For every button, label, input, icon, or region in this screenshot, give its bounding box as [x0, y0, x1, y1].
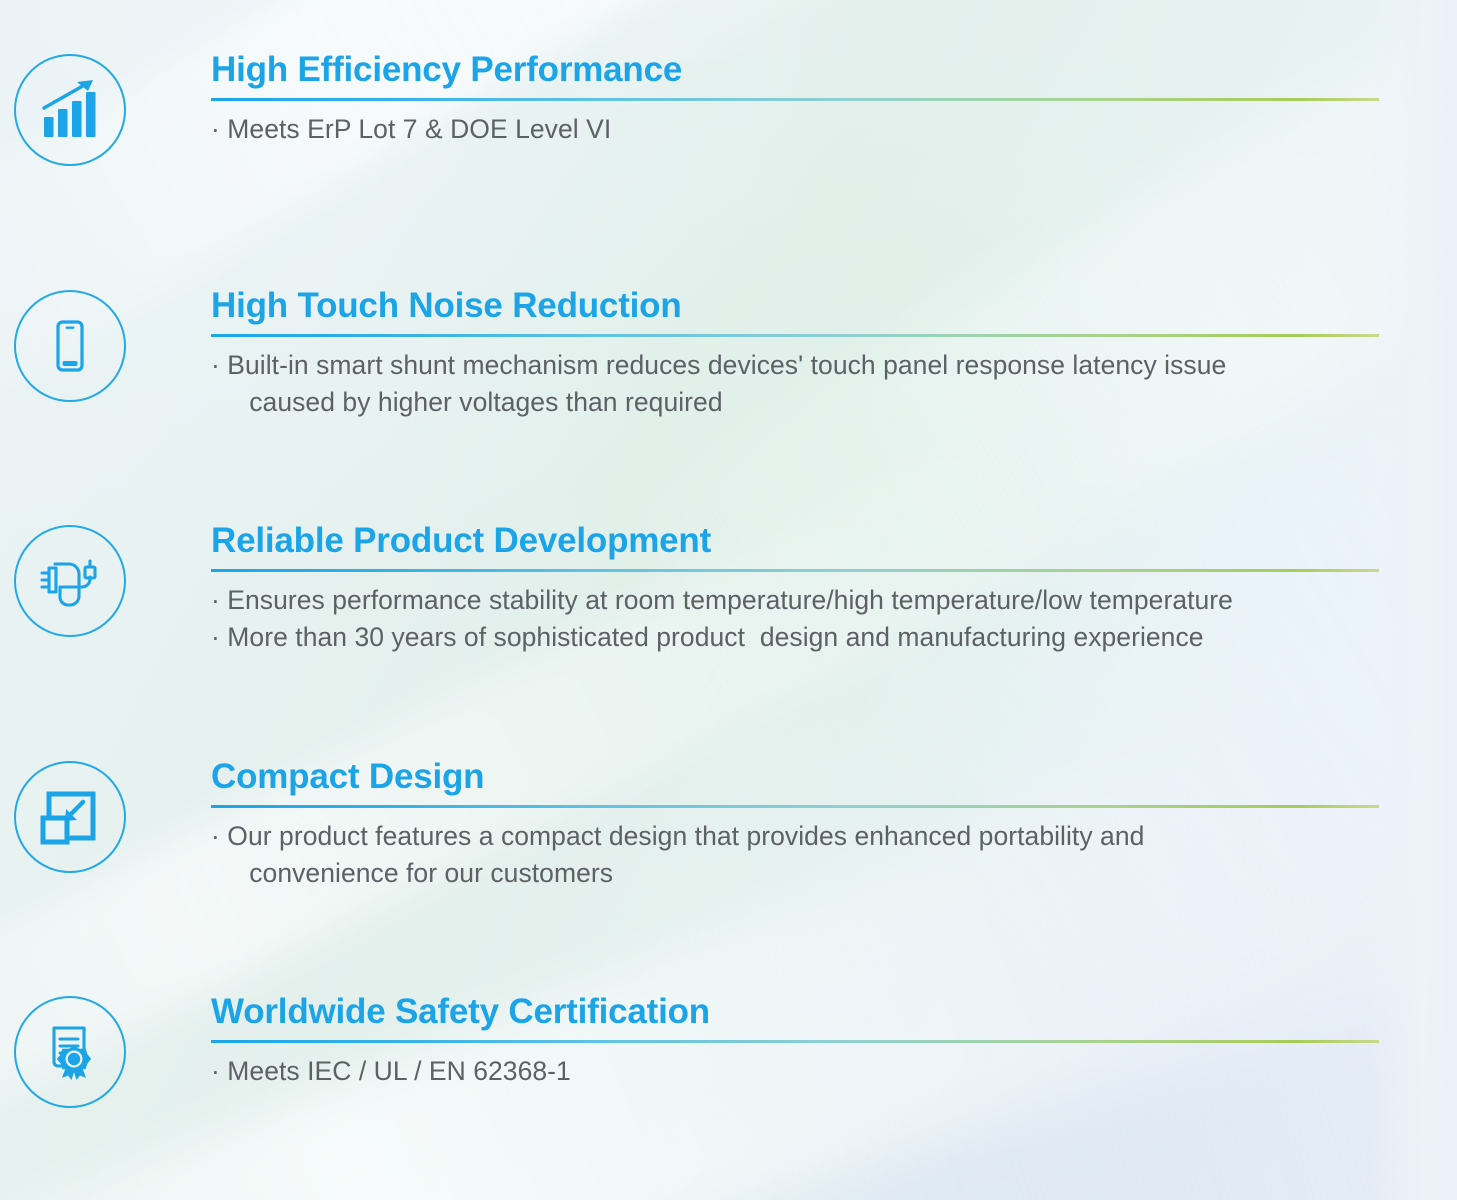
feature-bullets: · Built-in smart shunt mechanism reduces… — [211, 347, 1387, 421]
feature-divider — [211, 805, 1379, 808]
feature-icon-container — [0, 757, 140, 873]
feature-text-column: High Efficiency Performance · Meets ErP … — [140, 50, 1457, 148]
feature-icon-container — [0, 521, 140, 637]
feature-title: Compact Design — [211, 757, 1387, 796]
feature-divider — [211, 334, 1379, 337]
feature-divider — [211, 569, 1379, 572]
feature-title: Worldwide Safety Certification — [211, 992, 1387, 1031]
smartphone-icon — [14, 290, 126, 402]
feature-icon-container — [0, 50, 140, 166]
feature-title: High Efficiency Performance — [211, 50, 1387, 89]
certificate-award-icon — [14, 996, 126, 1108]
feature-item-high-efficiency-performance: High Efficiency Performance · Meets ErP … — [0, 50, 1457, 166]
feature-bullets: · Meets ErP Lot 7 & DOE Level VI — [211, 111, 1387, 148]
feature-list: High Efficiency Performance · Meets ErP … — [0, 0, 1457, 1200]
feature-item-compact-design: Compact Design · Our product features a … — [0, 757, 1457, 892]
feature-bullet: · More than 30 years of sophisticated pr… — [211, 619, 1387, 656]
feature-bullet: · Meets IEC / UL / EN 62368-1 — [211, 1053, 1387, 1090]
feature-bullet: · Our product features a compact design … — [211, 818, 1387, 892]
feature-item-worldwide-safety-certification: Worldwide Safety Certification · Meets I… — [0, 992, 1457, 1108]
feature-item-high-touch-noise-reduction: High Touch Noise Reduction · Built-in sm… — [0, 286, 1457, 421]
feature-bullets: · Meets IEC / UL / EN 62368-1 — [211, 1053, 1387, 1090]
feature-text-column: Compact Design · Our product features a … — [140, 757, 1457, 892]
feature-bullet: · Ensures performance stability at room … — [211, 582, 1387, 619]
feature-text-column: Reliable Product Development · Ensures p… — [140, 521, 1457, 656]
feature-title: Reliable Product Development — [211, 521, 1387, 560]
bar-chart-growth-icon — [14, 54, 126, 166]
feature-bullets: · Ensures performance stability at room … — [211, 582, 1387, 656]
feature-bullets: · Our product features a compact design … — [211, 818, 1387, 892]
feature-icon-container — [0, 992, 140, 1108]
feature-title: High Touch Noise Reduction — [211, 286, 1387, 325]
power-adapter-icon — [14, 525, 126, 637]
feature-text-column: Worldwide Safety Certification · Meets I… — [140, 992, 1457, 1090]
compact-resize-icon — [14, 761, 126, 873]
feature-text-column: High Touch Noise Reduction · Built-in sm… — [140, 286, 1457, 421]
feature-divider — [211, 98, 1379, 101]
feature-bullet: · Meets ErP Lot 7 & DOE Level VI — [211, 111, 1387, 148]
feature-bullet: · Built-in smart shunt mechanism reduces… — [211, 347, 1387, 421]
feature-divider — [211, 1040, 1379, 1043]
feature-icon-container — [0, 286, 140, 402]
feature-item-reliable-product-development: Reliable Product Development · Ensures p… — [0, 521, 1457, 656]
